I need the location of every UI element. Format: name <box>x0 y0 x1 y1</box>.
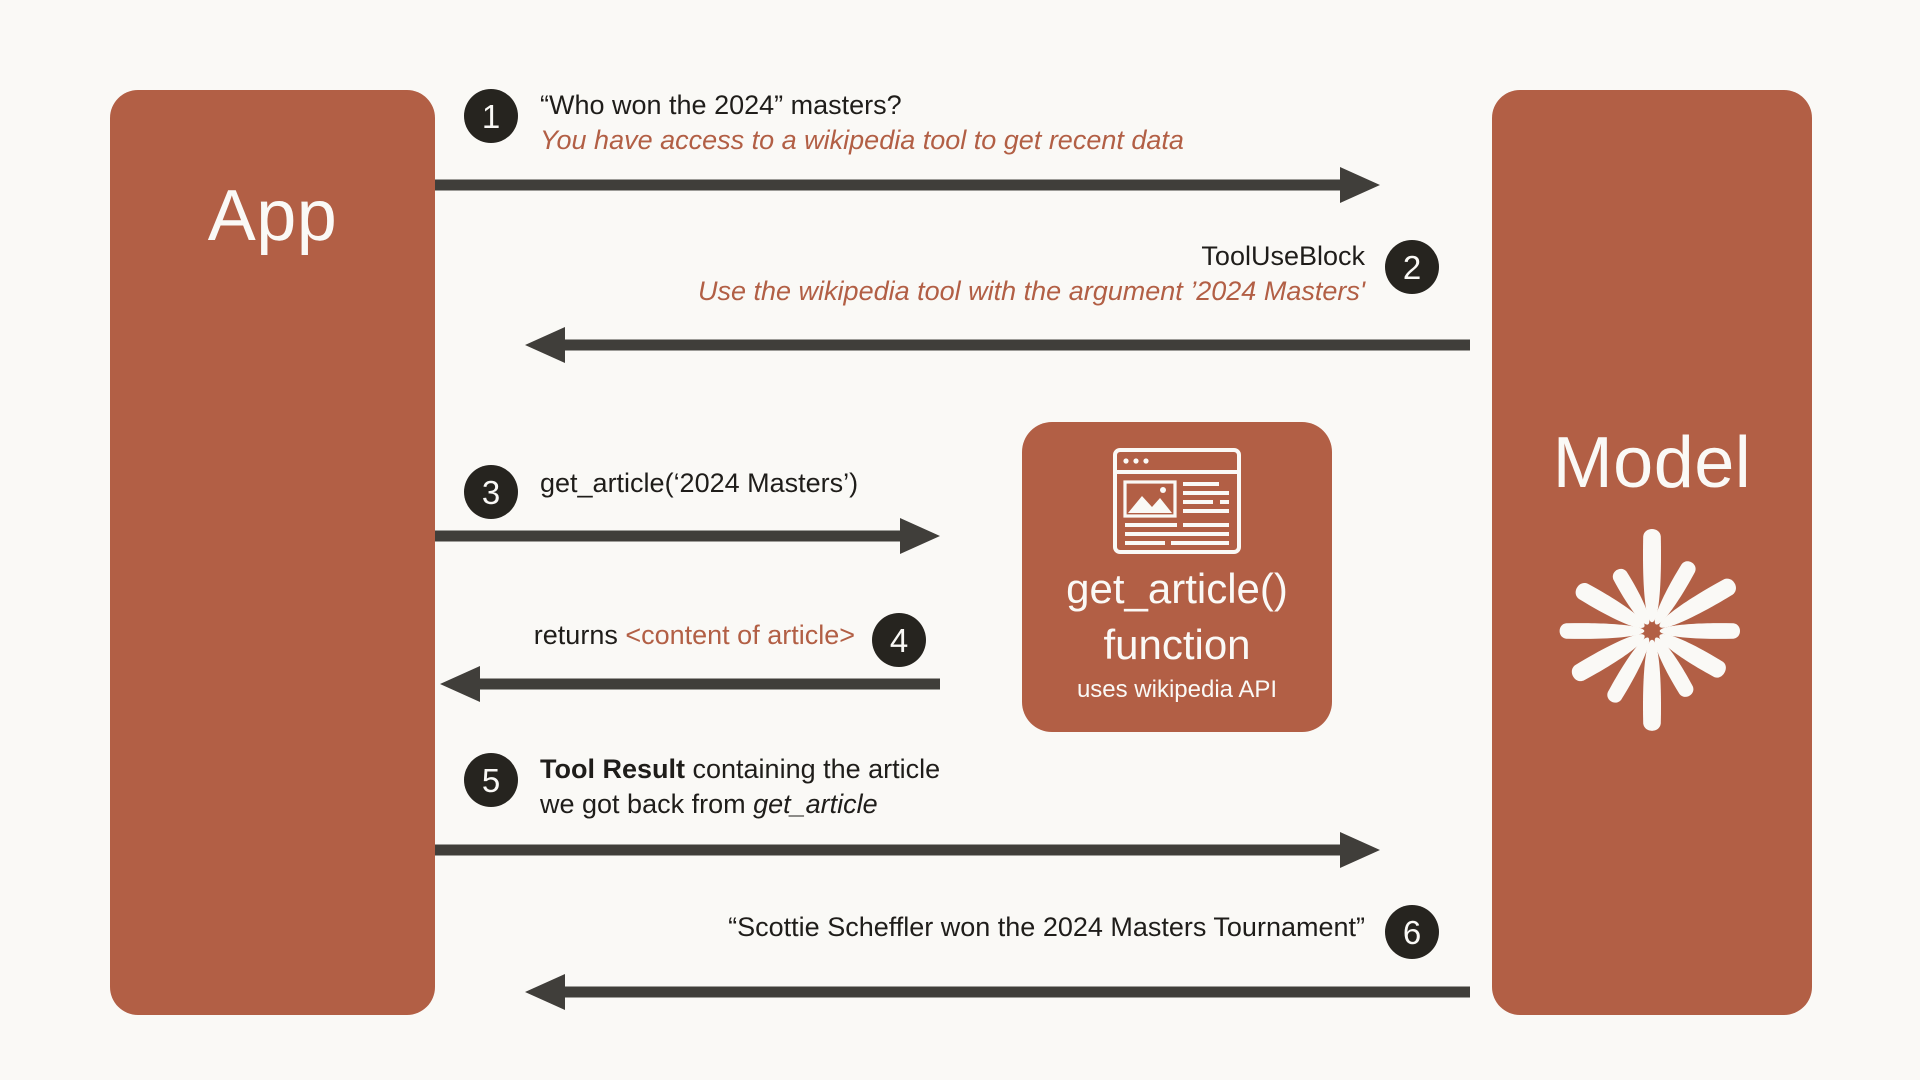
diagram-canvas: App Model <box>0 0 1920 1080</box>
arrow-step-5-app-to-model <box>435 830 1385 870</box>
step-6-message: “Scottie Scheffler won the 2024 Masters … <box>0 910 1365 945</box>
function-box-subtitle: uses wikipedia API <box>1077 676 1277 704</box>
step-badge-2: 2 <box>1385 240 1439 294</box>
step-5-tool-result-label: Tool Result <box>540 754 685 784</box>
step-4-returns-label: returns <box>534 620 626 650</box>
step-1-message: “Who won the 2024” masters? You have acc… <box>540 88 1184 157</box>
step-2-line2: Use the wikipedia tool with the argument… <box>0 274 1365 309</box>
step-6-line1: “Scottie Scheffler won the 2024 Masters … <box>0 910 1365 945</box>
step-3-message: get_article(‘2024 Masters’) <box>540 466 858 501</box>
step-badge-3: 3 <box>464 465 518 519</box>
step-5-message: Tool Result containing the article we go… <box>540 752 940 821</box>
arrow-step-3-app-to-function <box>435 516 945 556</box>
lifeline-app: App <box>110 90 435 1015</box>
lifeline-model: Model <box>1492 90 1812 1015</box>
step-4-content-token: <content of article> <box>625 620 855 650</box>
function-box-get-article: get_article() function uses wikipedia AP… <box>1022 422 1332 732</box>
step-3-line1: get_article(‘2024 Masters’) <box>540 466 858 501</box>
step-1-line2: You have access to a wikipedia tool to g… <box>540 123 1184 158</box>
step-badge-1: 1 <box>464 89 518 143</box>
function-box-title-line2: function <box>1103 622 1250 668</box>
step-5-line2-lead: we got back from <box>540 789 753 819</box>
step-4-message: returns <content of article> <box>0 618 855 653</box>
step-badge-6: 6 <box>1385 905 1439 959</box>
step-5-line1: Tool Result containing the article <box>540 752 940 787</box>
function-box-title-line1: get_article() <box>1066 566 1288 612</box>
step-5-function-ref: get_article <box>753 789 878 819</box>
arrow-step-6-model-to-app <box>520 972 1470 1012</box>
step-badge-4: 4 <box>872 613 926 667</box>
step-4-line1: returns <content of article> <box>0 618 855 653</box>
step-1-line1: “Who won the 2024” masters? <box>540 88 1184 123</box>
step-2-message: ToolUseBlock Use the wikipedia tool with… <box>0 239 1365 308</box>
arrow-step-1-app-to-model <box>435 165 1385 205</box>
article-window-icon <box>1111 446 1243 556</box>
lifeline-model-label: Model <box>1553 427 1752 499</box>
step-badge-5: 5 <box>464 753 518 807</box>
arrow-step-4-function-to-app <box>435 664 945 704</box>
step-5-line2: we got back from get_article <box>540 787 940 822</box>
step-5-line1-rest: containing the article <box>685 754 940 784</box>
arrow-step-2-model-to-app <box>520 325 1470 365</box>
anthropic-starburst-icon <box>1542 521 1762 741</box>
step-2-line1: ToolUseBlock <box>0 239 1365 274</box>
